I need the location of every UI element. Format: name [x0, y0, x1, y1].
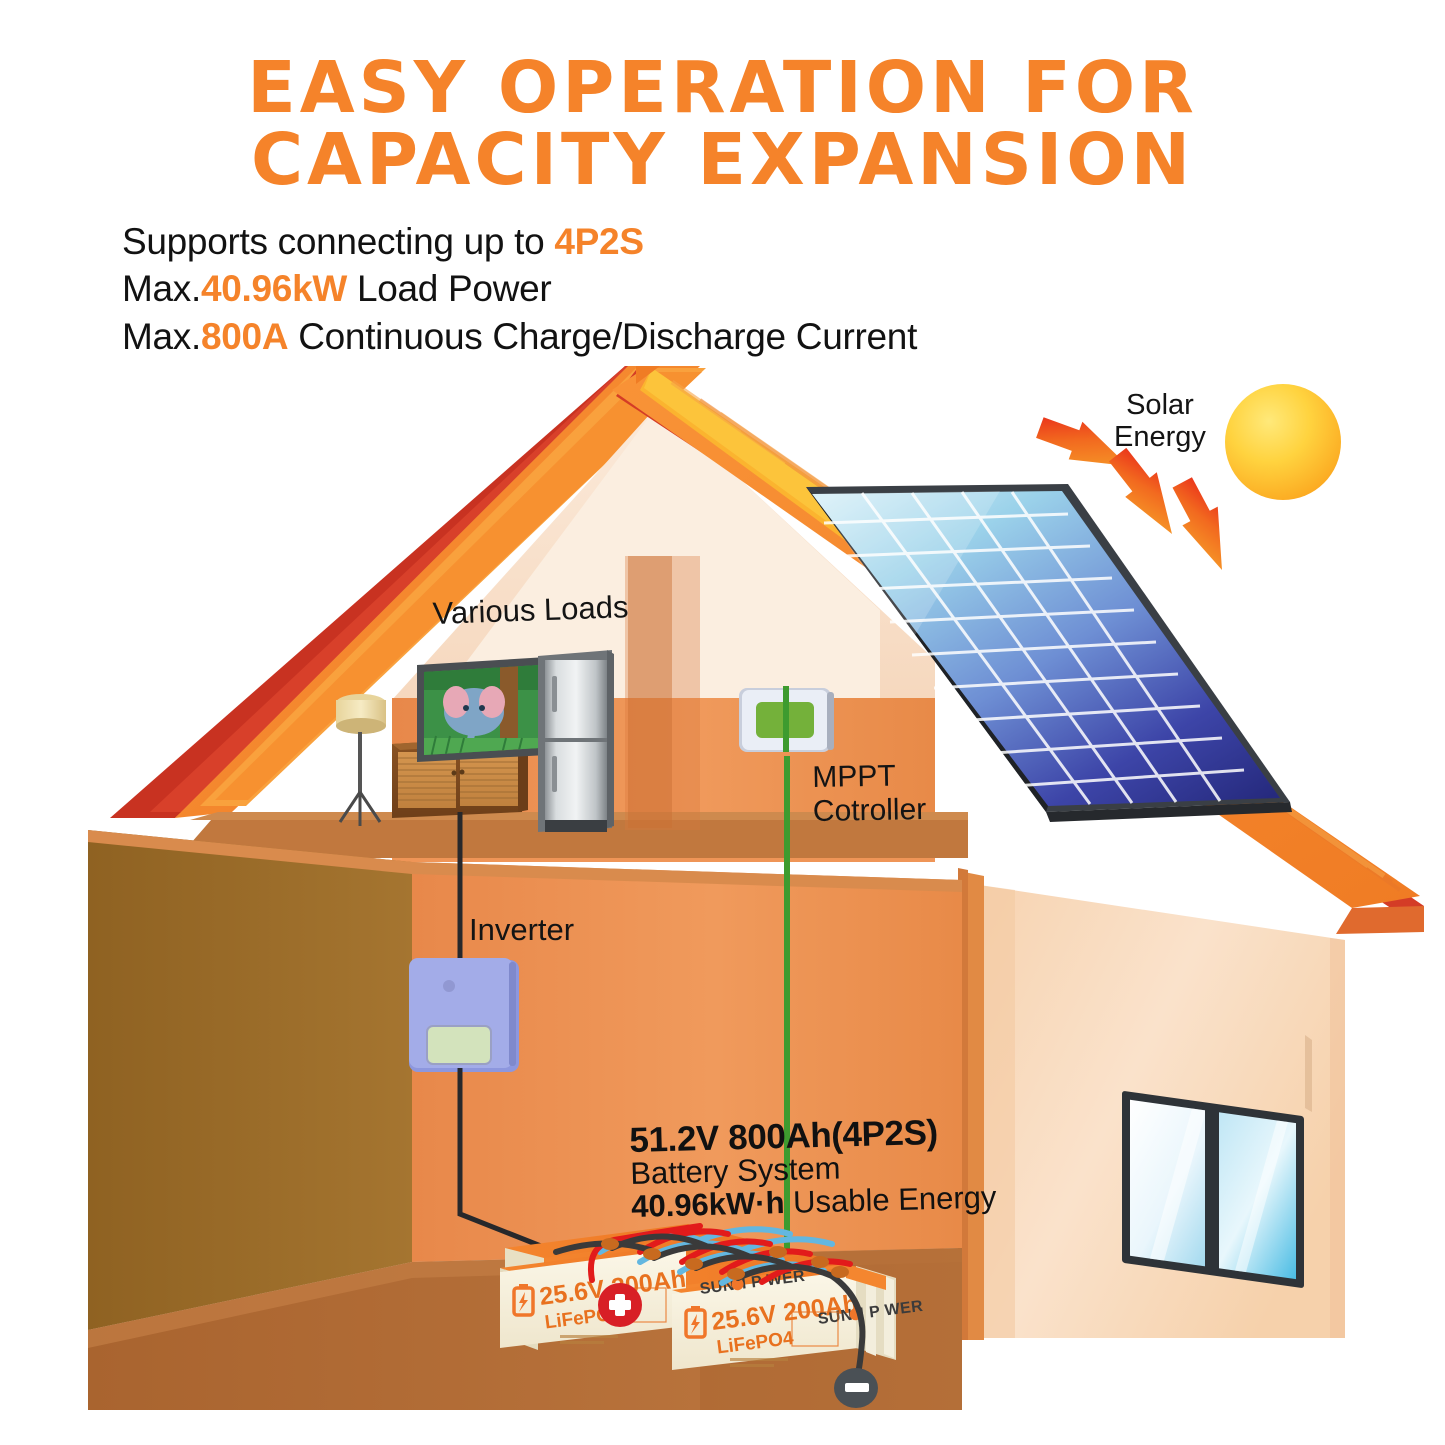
interior-left-wall: [88, 830, 412, 1330]
television: [417, 657, 548, 762]
sun-icon: [1225, 384, 1341, 500]
positive-terminal-badge: [598, 1283, 642, 1327]
negative-terminal-badge: [834, 1368, 878, 1408]
attic-partition: [625, 556, 700, 830]
label-mppt-controller: MPPT Cotroller: [812, 759, 927, 828]
ray-arrow-3: [1165, 473, 1245, 577]
label-inverter: Inverter: [469, 913, 574, 948]
battery-system-energy: 40.96kW·h: [631, 1185, 785, 1224]
solar-house-diagram: 25.6V 200Ah LiFePO4 SUNH P WER 25.6V 200…: [0, 0, 1445, 1445]
floor-lamp: [336, 694, 386, 826]
battery-system-spec: 51.2V 800Ah(4P2S) Battery System 40.96kW…: [629, 1112, 997, 1222]
inverter: [409, 958, 519, 1072]
label-solar-energy: Solar Energy: [1114, 389, 1206, 454]
refrigerator: [538, 650, 614, 832]
label-various-loads: Various Loads: [432, 590, 629, 632]
battery-system-energy-label: Usable Energy: [784, 1179, 997, 1220]
